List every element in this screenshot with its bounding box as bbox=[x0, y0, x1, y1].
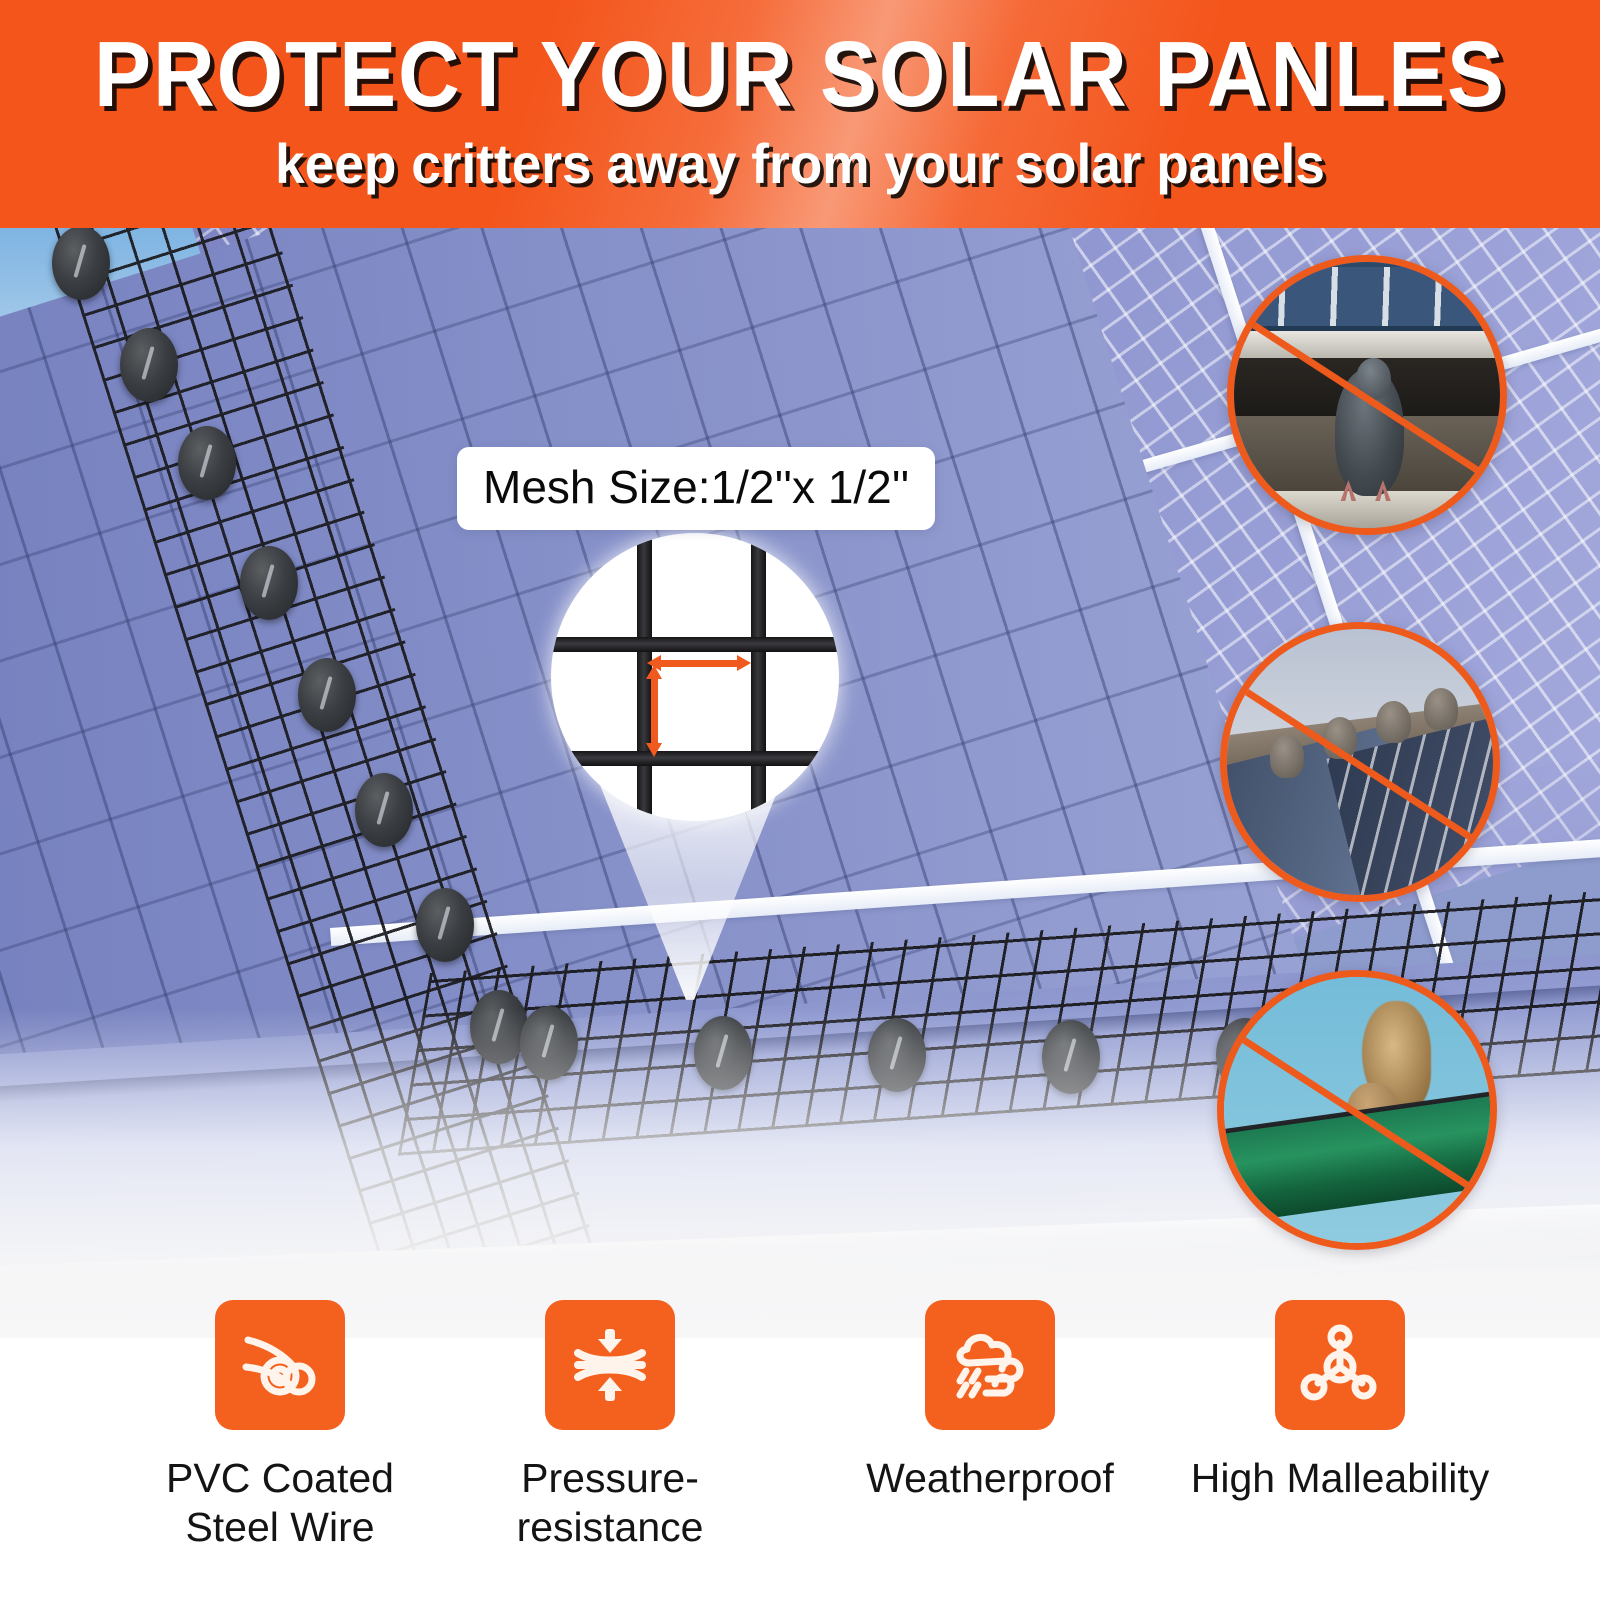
pigeons-icon bbox=[1270, 735, 1305, 778]
mesh-clip bbox=[298, 658, 356, 732]
feature-list: PVC Coated Steel Wire bbox=[0, 1300, 1600, 1600]
compression-arrows-icon bbox=[545, 1300, 675, 1430]
badge-no-pigeon-under-roof bbox=[1227, 255, 1507, 535]
product-infographic: PROTECT YOUR SOLAR PANLES keep critters … bbox=[0, 0, 1600, 1600]
feature-label: High Malleability bbox=[1160, 1454, 1520, 1503]
feature-pressure-resistance: Pressure-resistance bbox=[430, 1300, 790, 1552]
mesh-clip bbox=[694, 1016, 752, 1090]
mesh-magnifier-circle bbox=[551, 533, 839, 821]
rain-cloud-wind-icon bbox=[925, 1300, 1055, 1430]
mesh-clip bbox=[120, 328, 178, 402]
banner-subtitle: keep critters away from your solar panel… bbox=[40, 132, 1560, 196]
mesh-clip bbox=[470, 990, 528, 1064]
banner-title: PROTECT YOUR SOLAR PANLES bbox=[64, 26, 1536, 122]
mesh-wire-horizontal bbox=[551, 637, 839, 652]
mesh-wire-horizontal bbox=[551, 751, 839, 766]
badge-no-pigeons-on-panel bbox=[1220, 622, 1500, 902]
mesh-width-arrow bbox=[655, 660, 741, 667]
mesh-clip bbox=[868, 1018, 926, 1092]
mesh-clip bbox=[355, 773, 413, 847]
feature-label: PVC Coated Steel Wire bbox=[120, 1454, 440, 1552]
pigeons-icon bbox=[1376, 701, 1411, 744]
mesh-height-arrow bbox=[651, 673, 658, 749]
feature-label: Weatherproof bbox=[830, 1454, 1150, 1503]
mesh-height-arrow-head-bottom bbox=[646, 743, 662, 757]
feature-high-malleability: High Malleability bbox=[1160, 1300, 1520, 1503]
mesh-clip bbox=[416, 888, 474, 962]
mesh-height-arrow-head-top bbox=[646, 665, 662, 679]
mesh-wire-vertical bbox=[751, 533, 766, 821]
coated-wire-icon bbox=[215, 1300, 345, 1430]
window-sill bbox=[1234, 491, 1500, 528]
feature-weatherproof: Weatherproof bbox=[830, 1300, 1150, 1503]
mesh-width-arrow-head-right bbox=[737, 655, 751, 671]
mesh-clip bbox=[520, 1006, 578, 1080]
mesh-clip bbox=[52, 228, 110, 300]
feature-label: Pressure-resistance bbox=[430, 1454, 790, 1552]
molecule-nodes-icon bbox=[1275, 1300, 1405, 1430]
badge-no-squirrel-on-gutter bbox=[1217, 970, 1497, 1250]
header-banner: PROTECT YOUR SOLAR PANLES keep critters … bbox=[0, 0, 1600, 228]
mesh-size-label: Mesh Size:1/2''x 1/2'' bbox=[457, 447, 935, 530]
feature-pvc-coated-steel-wire: PVC Coated Steel Wire bbox=[120, 1300, 440, 1552]
mesh-clip bbox=[240, 546, 298, 620]
pigeons-icon bbox=[1424, 688, 1459, 731]
mesh-clip bbox=[1042, 1020, 1100, 1094]
mesh-clip bbox=[178, 426, 236, 500]
glass-roof bbox=[1234, 267, 1500, 326]
